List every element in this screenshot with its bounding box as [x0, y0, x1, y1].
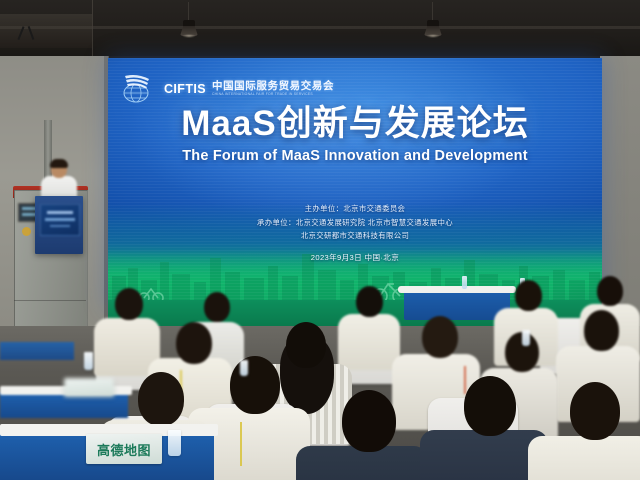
led-presentation-screen: CIFTIS 中国国际服务贸易交易会 CHINA INTERNATIONAL F… — [108, 58, 602, 308]
ceiling-beam — [0, 26, 640, 29]
rear-table — [0, 342, 74, 360]
water-glass-icon — [84, 352, 93, 370]
water-glass-icon — [522, 330, 530, 346]
placard-amap: 高德地图 — [86, 434, 162, 464]
head-table-icon — [404, 290, 510, 320]
ceiling-panel — [0, 14, 92, 48]
cabinet-seam — [14, 300, 86, 301]
water-glass-icon — [168, 430, 181, 456]
water-glass-icon — [240, 360, 248, 376]
water-bottle-icon — [462, 276, 467, 289]
ceiling — [0, 0, 640, 56]
screen-vignette — [108, 58, 602, 308]
head-table-cloth — [398, 286, 516, 293]
podium — [35, 196, 83, 254]
cabinet-indicator-light — [22, 227, 31, 236]
placard-blurred-left — [64, 378, 114, 397]
podium-sign-icon — [40, 204, 80, 236]
screenshot-root: CIFTIS 中国国际服务贸易交易会 CHINA INTERNATIONAL F… — [0, 0, 640, 480]
